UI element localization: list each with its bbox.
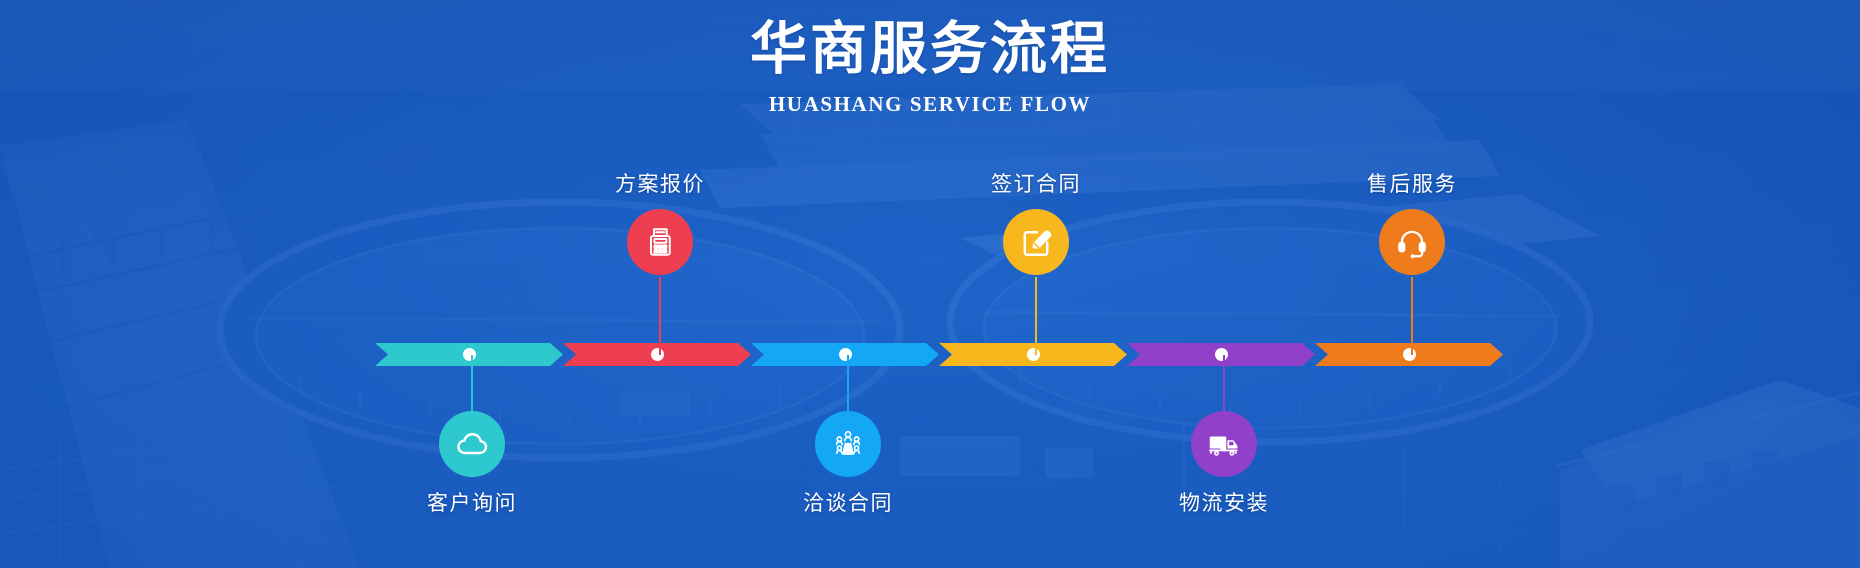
flow-step-3[interactable]: 洽谈合同	[738, 411, 958, 517]
flow-arrow-segment-6[interactable]	[1315, 343, 1503, 366]
calculator-invoice-icon[interactable]	[627, 209, 693, 275]
connector-stem-5	[1223, 355, 1225, 416]
flow-step-label-3: 洽谈合同	[738, 491, 958, 517]
flow-step-5[interactable]: 物流安装	[1114, 411, 1334, 517]
page-title: 华商服务流程	[0, 16, 1860, 82]
flow-arrow-segment-4[interactable]	[939, 343, 1127, 366]
flow-step-label-1: 客户询问	[362, 491, 582, 517]
flow-arrow-segment-3[interactable]	[751, 343, 939, 366]
delivery-truck-icon[interactable]	[1191, 411, 1257, 477]
flow-node-dot-1	[463, 348, 476, 361]
connector-stem-1	[471, 355, 473, 416]
page-subtitle: HUASHANG SERVICE FLOW	[0, 92, 1860, 116]
pencil-sign-icon[interactable]	[1003, 209, 1069, 275]
connector-stem-2	[659, 277, 661, 355]
heading-block: 华商服务流程 HUASHANG SERVICE FLOW	[0, 16, 1860, 116]
flow-node-dot-6	[1403, 348, 1416, 361]
flow-node-dot-3	[839, 348, 852, 361]
cloud-chat-icon[interactable]	[439, 411, 505, 477]
flow-arrow-segment-5[interactable]	[1127, 343, 1315, 366]
flow-arrow-segment-1[interactable]	[375, 343, 563, 366]
flow-step-1[interactable]: 客户询问	[362, 411, 582, 517]
service-flow-banner: 华商服务流程 HUASHANG SERVICE FLOW 客户询问方案报价	[0, 0, 1860, 568]
flow-step-6[interactable]: 售后服务	[1302, 172, 1522, 275]
flow-arrow-bar	[375, 343, 1503, 366]
flow-node-dot-5	[1215, 348, 1228, 361]
flow-step-label-4: 签订合同	[926, 172, 1146, 198]
connector-stem-6	[1411, 277, 1413, 355]
connector-stem-4	[1035, 277, 1037, 355]
meeting-table-icon[interactable]	[815, 411, 881, 477]
flow-step-label-2: 方案报价	[550, 172, 770, 198]
headset-support-icon[interactable]	[1379, 209, 1445, 275]
flow-step-label-5: 物流安装	[1114, 491, 1334, 517]
flow-node-dot-2	[651, 348, 664, 361]
flow-step-2[interactable]: 方案报价	[550, 172, 770, 275]
connector-stem-3	[847, 355, 849, 416]
flow-step-4[interactable]: 签订合同	[926, 172, 1146, 275]
flow-arrow-segment-2[interactable]	[563, 343, 751, 366]
flow-step-label-6: 售后服务	[1302, 172, 1522, 198]
flow-node-dot-4	[1027, 348, 1040, 361]
